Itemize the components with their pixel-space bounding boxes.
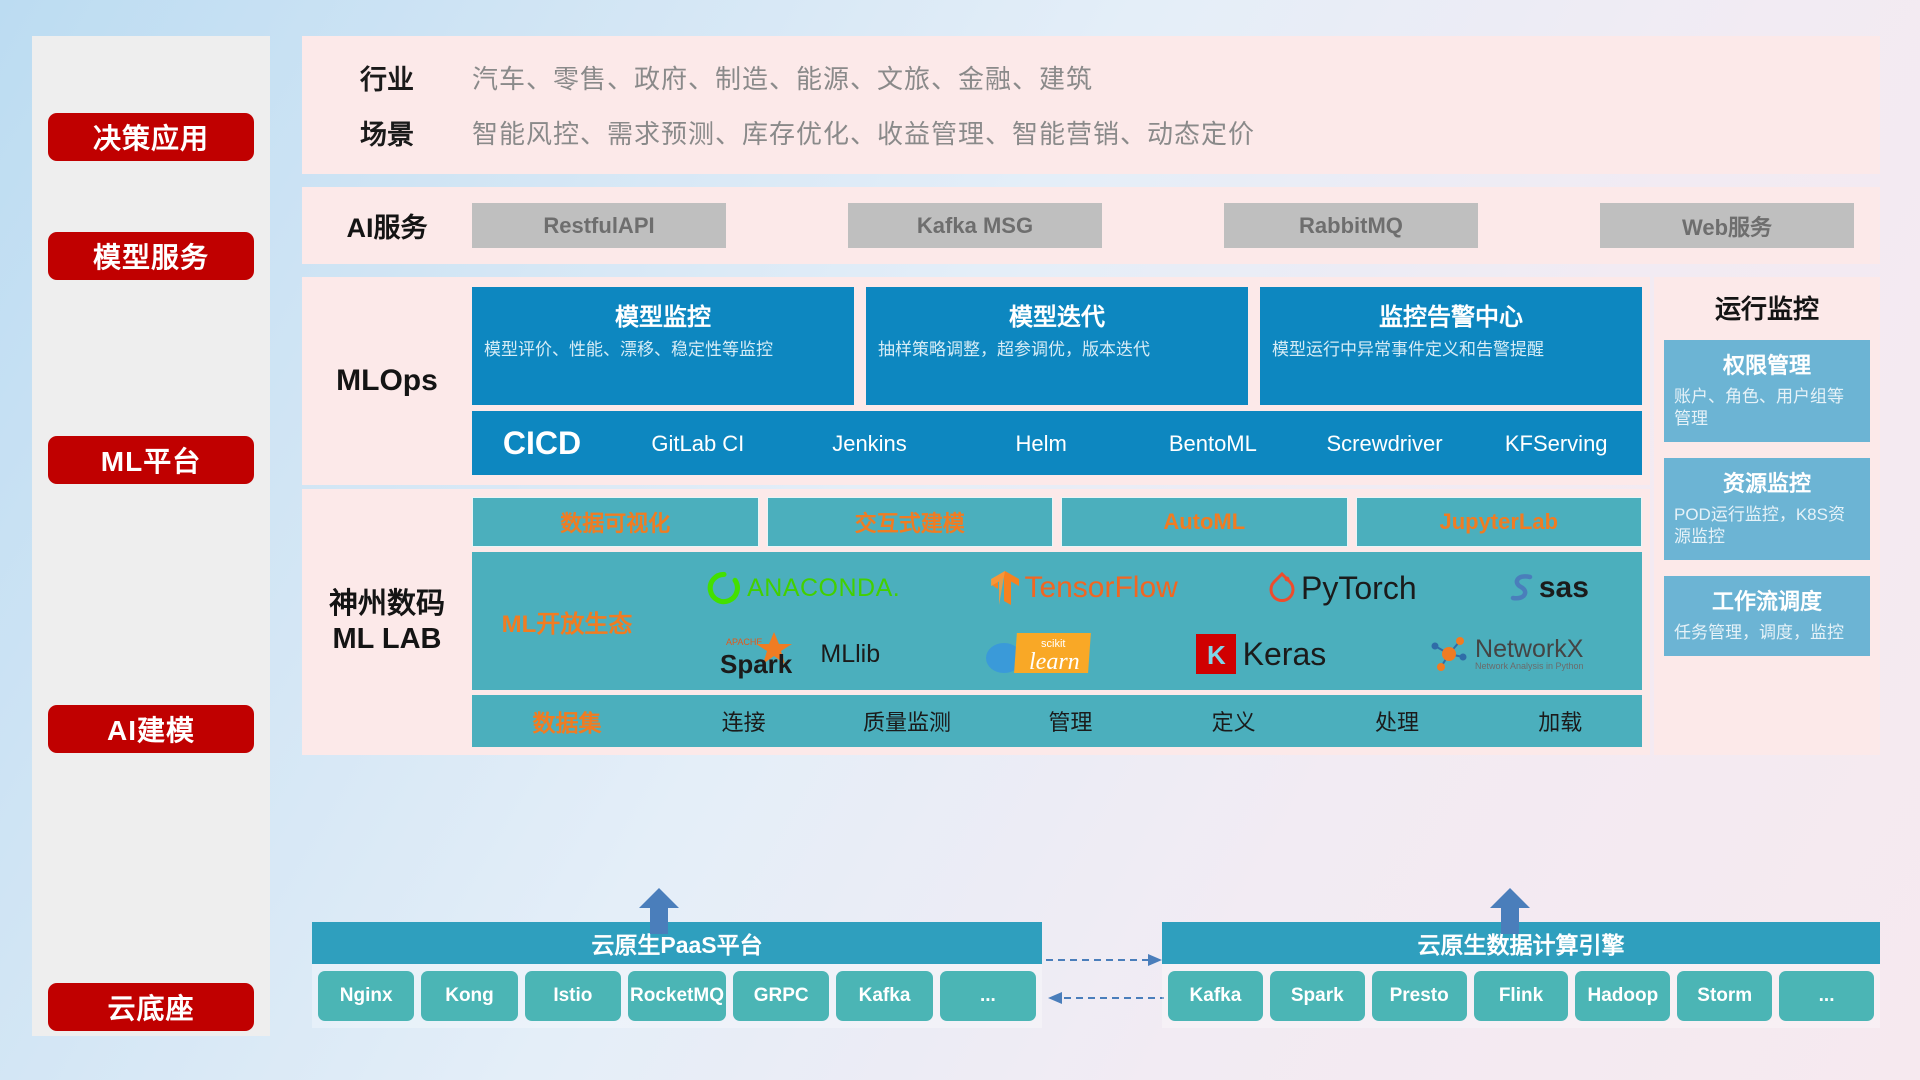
mlops-card-alert-center[interactable]: 监控告警中心 模型运行中异常事件定义和告警提醒 xyxy=(1260,287,1642,405)
tool-chip-automl[interactable]: AutoML xyxy=(1061,497,1348,547)
industry-row: 行业 汽车、零售、政府、制造、能源、文旅、金融、建筑 xyxy=(302,58,1880,97)
scikit-learn-icon: scikit learn xyxy=(1013,631,1095,677)
networkx-wordmark: NetworkX xyxy=(1475,637,1584,662)
anaconda-wordmark: ANACONDA. xyxy=(747,574,900,603)
scenario-label: 场景 xyxy=(302,113,472,152)
cloud-chip-spark[interactable]: Spark xyxy=(1270,971,1365,1021)
dataset-row: 数据集 连接 质量监测 管理 定义 处理 加载 xyxy=(472,695,1642,747)
cicd-item-jenkins[interactable]: Jenkins xyxy=(784,431,956,455)
monitor-card-title: 资源监控 xyxy=(1674,466,1860,498)
keras-icon: K xyxy=(1196,634,1236,674)
cloud-chip-presto[interactable]: Presto xyxy=(1372,971,1467,1021)
mllab-tool-list: 数据可视化 交互式建模 AutoML JupyterLab xyxy=(472,497,1642,547)
ml-open-ecosystem-row: ML开放生态 ANACONDA. xyxy=(472,552,1642,690)
ai-chip-rabbitmq[interactable]: RabbitMQ xyxy=(1224,203,1478,248)
layer-rail: 决策应用 模型服务 ML平台 AI建模 云底座 xyxy=(32,36,270,1036)
band-divider-2 xyxy=(302,264,1880,277)
mlops-card-desc: 抽样策略调整，超参调优，版本迭代 xyxy=(878,339,1236,362)
cicd-item-gitlab-ci[interactable]: GitLab CI xyxy=(612,431,784,455)
logo-line-top: ANACONDA. TensorFlow xyxy=(662,556,1634,620)
mllab-label-line2: ML LAB xyxy=(302,622,472,657)
mllab-label: 神州数码 ML LAB xyxy=(302,587,472,657)
mlops-card-model-iteration[interactable]: 模型迭代 抽样策略调整，超参调优，版本迭代 xyxy=(866,287,1248,405)
ai-service-chip-list: RestfulAPI Kafka MSG RabbitMQ Web服务 xyxy=(472,203,1854,248)
ai-service-band: AI服务 RestfulAPI Kafka MSG RabbitMQ Web服务 xyxy=(302,187,1880,264)
mlops-section: MLOps 模型监控 模型评价、性能、漂移、稳定性等监控 模型迭代 抽样策略调整… xyxy=(302,277,1650,485)
monitor-card-permission[interactable]: 权限管理 账户、角色、用户组等管理 xyxy=(1664,340,1870,442)
keras-logo: K Keras xyxy=(1196,634,1327,674)
industry-label: 行业 xyxy=(302,58,472,97)
anaconda-logo: ANACONDA. xyxy=(707,571,900,605)
mlops-content: 模型监控 模型评价、性能、漂移、稳定性等监控 模型迭代 抽样策略调整，超参调优，… xyxy=(472,287,1642,475)
bidirectional-link-arrows xyxy=(1044,950,1166,1012)
cloud-paas-group: 云原生PaaS平台 Nginx Kong Istio RocketMQ GRPC… xyxy=(312,922,1042,1028)
tool-chip-data-visualization[interactable]: 数据可视化 xyxy=(472,497,759,547)
scenario-value: 智能风控、需求预测、库存优化、收益管理、智能营销、动态定价 xyxy=(472,114,1255,151)
spark-icon: APACHE Spark xyxy=(712,629,822,679)
cloud-paas-chip-list: Nginx Kong Istio RocketMQ GRPC Kafka ... xyxy=(312,964,1042,1028)
cloud-chip-nginx[interactable]: Nginx xyxy=(318,971,414,1021)
cloud-chip-kafka[interactable]: Kafka xyxy=(836,971,932,1021)
mllab-label-line1: 神州数码 xyxy=(302,587,472,622)
cicd-item-kfserving[interactable]: KFServing xyxy=(1470,431,1642,455)
mllab-section: 神州数码 ML LAB 数据可视化 交互式建模 AutoML JupyterLa… xyxy=(302,489,1650,755)
tool-chip-jupyterlab[interactable]: JupyterLab xyxy=(1356,497,1643,547)
dataset-item-quality-monitor[interactable]: 质量监测 xyxy=(825,705,988,737)
mlops-card-title: 模型监控 xyxy=(484,297,842,332)
cloud-chip-kafka-data[interactable]: Kafka xyxy=(1168,971,1263,1021)
dataset-item-load[interactable]: 加载 xyxy=(1479,705,1642,737)
cicd-item-bentoml[interactable]: BentoML xyxy=(1127,431,1299,455)
mllab-content: 数据可视化 交互式建模 AutoML JupyterLab ML开放生态 xyxy=(472,497,1642,747)
monitor-card-desc: 账户、角色、用户组等管理 xyxy=(1674,386,1860,430)
cloud-foundation-zone: 云原生PaaS平台 Nginx Kong Istio RocketMQ GRPC… xyxy=(302,888,1880,1036)
mllib-wordmark: MLlib xyxy=(820,640,880,669)
dataset-label: 数据集 xyxy=(472,704,662,738)
pytorch-logo: PyTorch xyxy=(1268,570,1417,607)
cicd-item-helm[interactable]: Helm xyxy=(955,431,1127,455)
ai-chip-restfulapi[interactable]: RestfulAPI xyxy=(472,203,726,248)
ecosystem-logo-grid: ANACONDA. TensorFlow xyxy=(662,556,1642,686)
cloud-chip-more[interactable]: ... xyxy=(940,971,1036,1021)
monitor-card-desc: 任务管理，调度，监控 xyxy=(1674,622,1860,644)
cloud-chip-kong[interactable]: Kong xyxy=(421,971,517,1021)
industry-value: 汽车、零售、政府、制造、能源、文旅、金融、建筑 xyxy=(472,59,1093,96)
cicd-bar: CICD GitLab CI Jenkins Helm BentoML Scre… xyxy=(472,411,1642,475)
dataset-item-define[interactable]: 定义 xyxy=(1152,705,1315,737)
cloud-chip-rocketmq[interactable]: RocketMQ xyxy=(628,971,726,1021)
logo-line-bottom: APACHE Spark MLlib xyxy=(662,622,1634,686)
scenario-row: 场景 智能风控、需求预测、库存优化、收益管理、智能营销、动态定价 xyxy=(302,113,1880,152)
pytorch-icon xyxy=(1268,571,1296,605)
platform-left-column: MLOps 模型监控 模型评价、性能、漂移、稳定性等监控 模型迭代 抽样策略调整… xyxy=(302,277,1650,755)
dataset-item-list: 连接 质量监测 管理 定义 处理 加载 xyxy=(662,705,1642,737)
networkx-tagline: Network Analysis in Python xyxy=(1475,662,1584,671)
mlops-card-desc: 模型运行中异常事件定义和告警提醒 xyxy=(1272,339,1630,362)
cloud-data-chip-list: Kafka Spark Presto Flink Hadoop Storm ..… xyxy=(1162,964,1880,1028)
rail-item-ai-modeling[interactable]: AI建模 xyxy=(48,705,254,753)
runtime-monitoring-column: 运行监控 权限管理 账户、角色、用户组等管理 资源监控 POD运行监控，K8S资… xyxy=(1654,277,1880,755)
sas-icon xyxy=(1507,571,1537,605)
cloud-chip-grpc[interactable]: GRPC xyxy=(733,971,829,1021)
rail-item-ml-platform[interactable]: ML平台 xyxy=(48,436,254,484)
cloud-chip-istio[interactable]: Istio xyxy=(525,971,621,1021)
svg-text:APACHE: APACHE xyxy=(726,637,762,647)
spark-mllib-logo: APACHE Spark MLlib xyxy=(712,629,880,679)
band-divider xyxy=(302,174,1880,187)
rail-item-cloud-base[interactable]: 云底座 xyxy=(48,983,254,1031)
tensorflow-wordmark: TensorFlow xyxy=(1024,571,1177,605)
pytorch-wordmark: PyTorch xyxy=(1301,570,1417,607)
mlops-label: MLOps xyxy=(302,364,472,398)
monitor-card-workflow[interactable]: 工作流调度 任务管理，调度，监控 xyxy=(1664,576,1870,656)
rail-item-decision-app[interactable]: 决策应用 xyxy=(48,113,254,161)
dataset-item-process[interactable]: 处理 xyxy=(1315,705,1478,737)
svg-text:Spark: Spark xyxy=(720,649,793,679)
cicd-item-list: GitLab CI Jenkins Helm BentoML Screwdriv… xyxy=(612,431,1642,455)
cicd-item-screwdriver[interactable]: Screwdriver xyxy=(1299,431,1471,455)
mlops-card-model-monitoring[interactable]: 模型监控 模型评价、性能、漂移、稳定性等监控 xyxy=(472,287,854,405)
tensorflow-logo: TensorFlow xyxy=(990,570,1177,606)
svg-text:K: K xyxy=(1207,640,1226,670)
mlops-card-title: 监控告警中心 xyxy=(1272,297,1630,332)
scikit-learn-logo: scikit learn xyxy=(981,631,1095,677)
dataset-item-manage[interactable]: 管理 xyxy=(989,705,1152,737)
anaconda-icon xyxy=(707,571,741,605)
tool-chip-interactive-modeling[interactable]: 交互式建模 xyxy=(767,497,1054,547)
networkx-logo: NetworkX Network Analysis in Python xyxy=(1427,633,1584,675)
cloud-chip-storm[interactable]: Storm xyxy=(1677,971,1772,1021)
rail-item-model-service[interactable]: 模型服务 xyxy=(48,232,254,280)
mlops-card-title: 模型迭代 xyxy=(878,297,1236,332)
ai-chip-kafka-msg[interactable]: Kafka MSG xyxy=(848,203,1102,248)
networkx-icon xyxy=(1427,633,1471,675)
cloud-data-engine-group: 云原生数据计算引擎 Kafka Spark Presto Flink Hadoo… xyxy=(1162,922,1880,1028)
cloud-chip-hadoop[interactable]: Hadoop xyxy=(1575,971,1670,1021)
cloud-chip-flink[interactable]: Flink xyxy=(1474,971,1569,1021)
ai-service-label: AI服务 xyxy=(302,206,472,245)
industry-scenario-band: 行业 汽车、零售、政府、制造、能源、文旅、金融、建筑 场景 智能风控、需求预测、… xyxy=(302,36,1880,174)
dataset-item-connect[interactable]: 连接 xyxy=(662,705,825,737)
monitor-card-title: 权限管理 xyxy=(1674,348,1860,380)
ai-chip-web-service[interactable]: Web服务 xyxy=(1600,203,1854,248)
ml-open-ecosystem-label: ML开放生态 xyxy=(472,604,662,639)
up-arrow-paas-icon xyxy=(637,888,681,934)
cicd-label: CICD xyxy=(472,425,612,462)
mlops-card-list: 模型监控 模型评价、性能、漂移、稳定性等监控 模型迭代 抽样策略调整，超参调优，… xyxy=(472,287,1642,405)
up-arrow-data-icon xyxy=(1488,888,1532,934)
mlops-card-desc: 模型评价、性能、漂移、稳定性等监控 xyxy=(484,339,842,362)
monitor-card-resource[interactable]: 资源监控 POD运行监控，K8S资源监控 xyxy=(1664,458,1870,560)
platform-band: MLOps 模型监控 模型评价、性能、漂移、稳定性等监控 模型迭代 抽样策略调整… xyxy=(302,277,1880,755)
sas-logo: sas xyxy=(1507,571,1589,605)
runtime-monitoring-title: 运行监控 xyxy=(1715,289,1819,326)
keras-wordmark: Keras xyxy=(1243,636,1327,673)
tensorflow-icon xyxy=(990,570,1020,606)
sas-wordmark: sas xyxy=(1539,571,1589,605)
cloud-chip-more-data[interactable]: ... xyxy=(1779,971,1874,1021)
svg-text:learn: learn xyxy=(1029,649,1080,675)
monitor-card-title: 工作流调度 xyxy=(1674,584,1860,616)
monitor-card-desc: POD运行监控，K8S资源监控 xyxy=(1674,504,1860,548)
